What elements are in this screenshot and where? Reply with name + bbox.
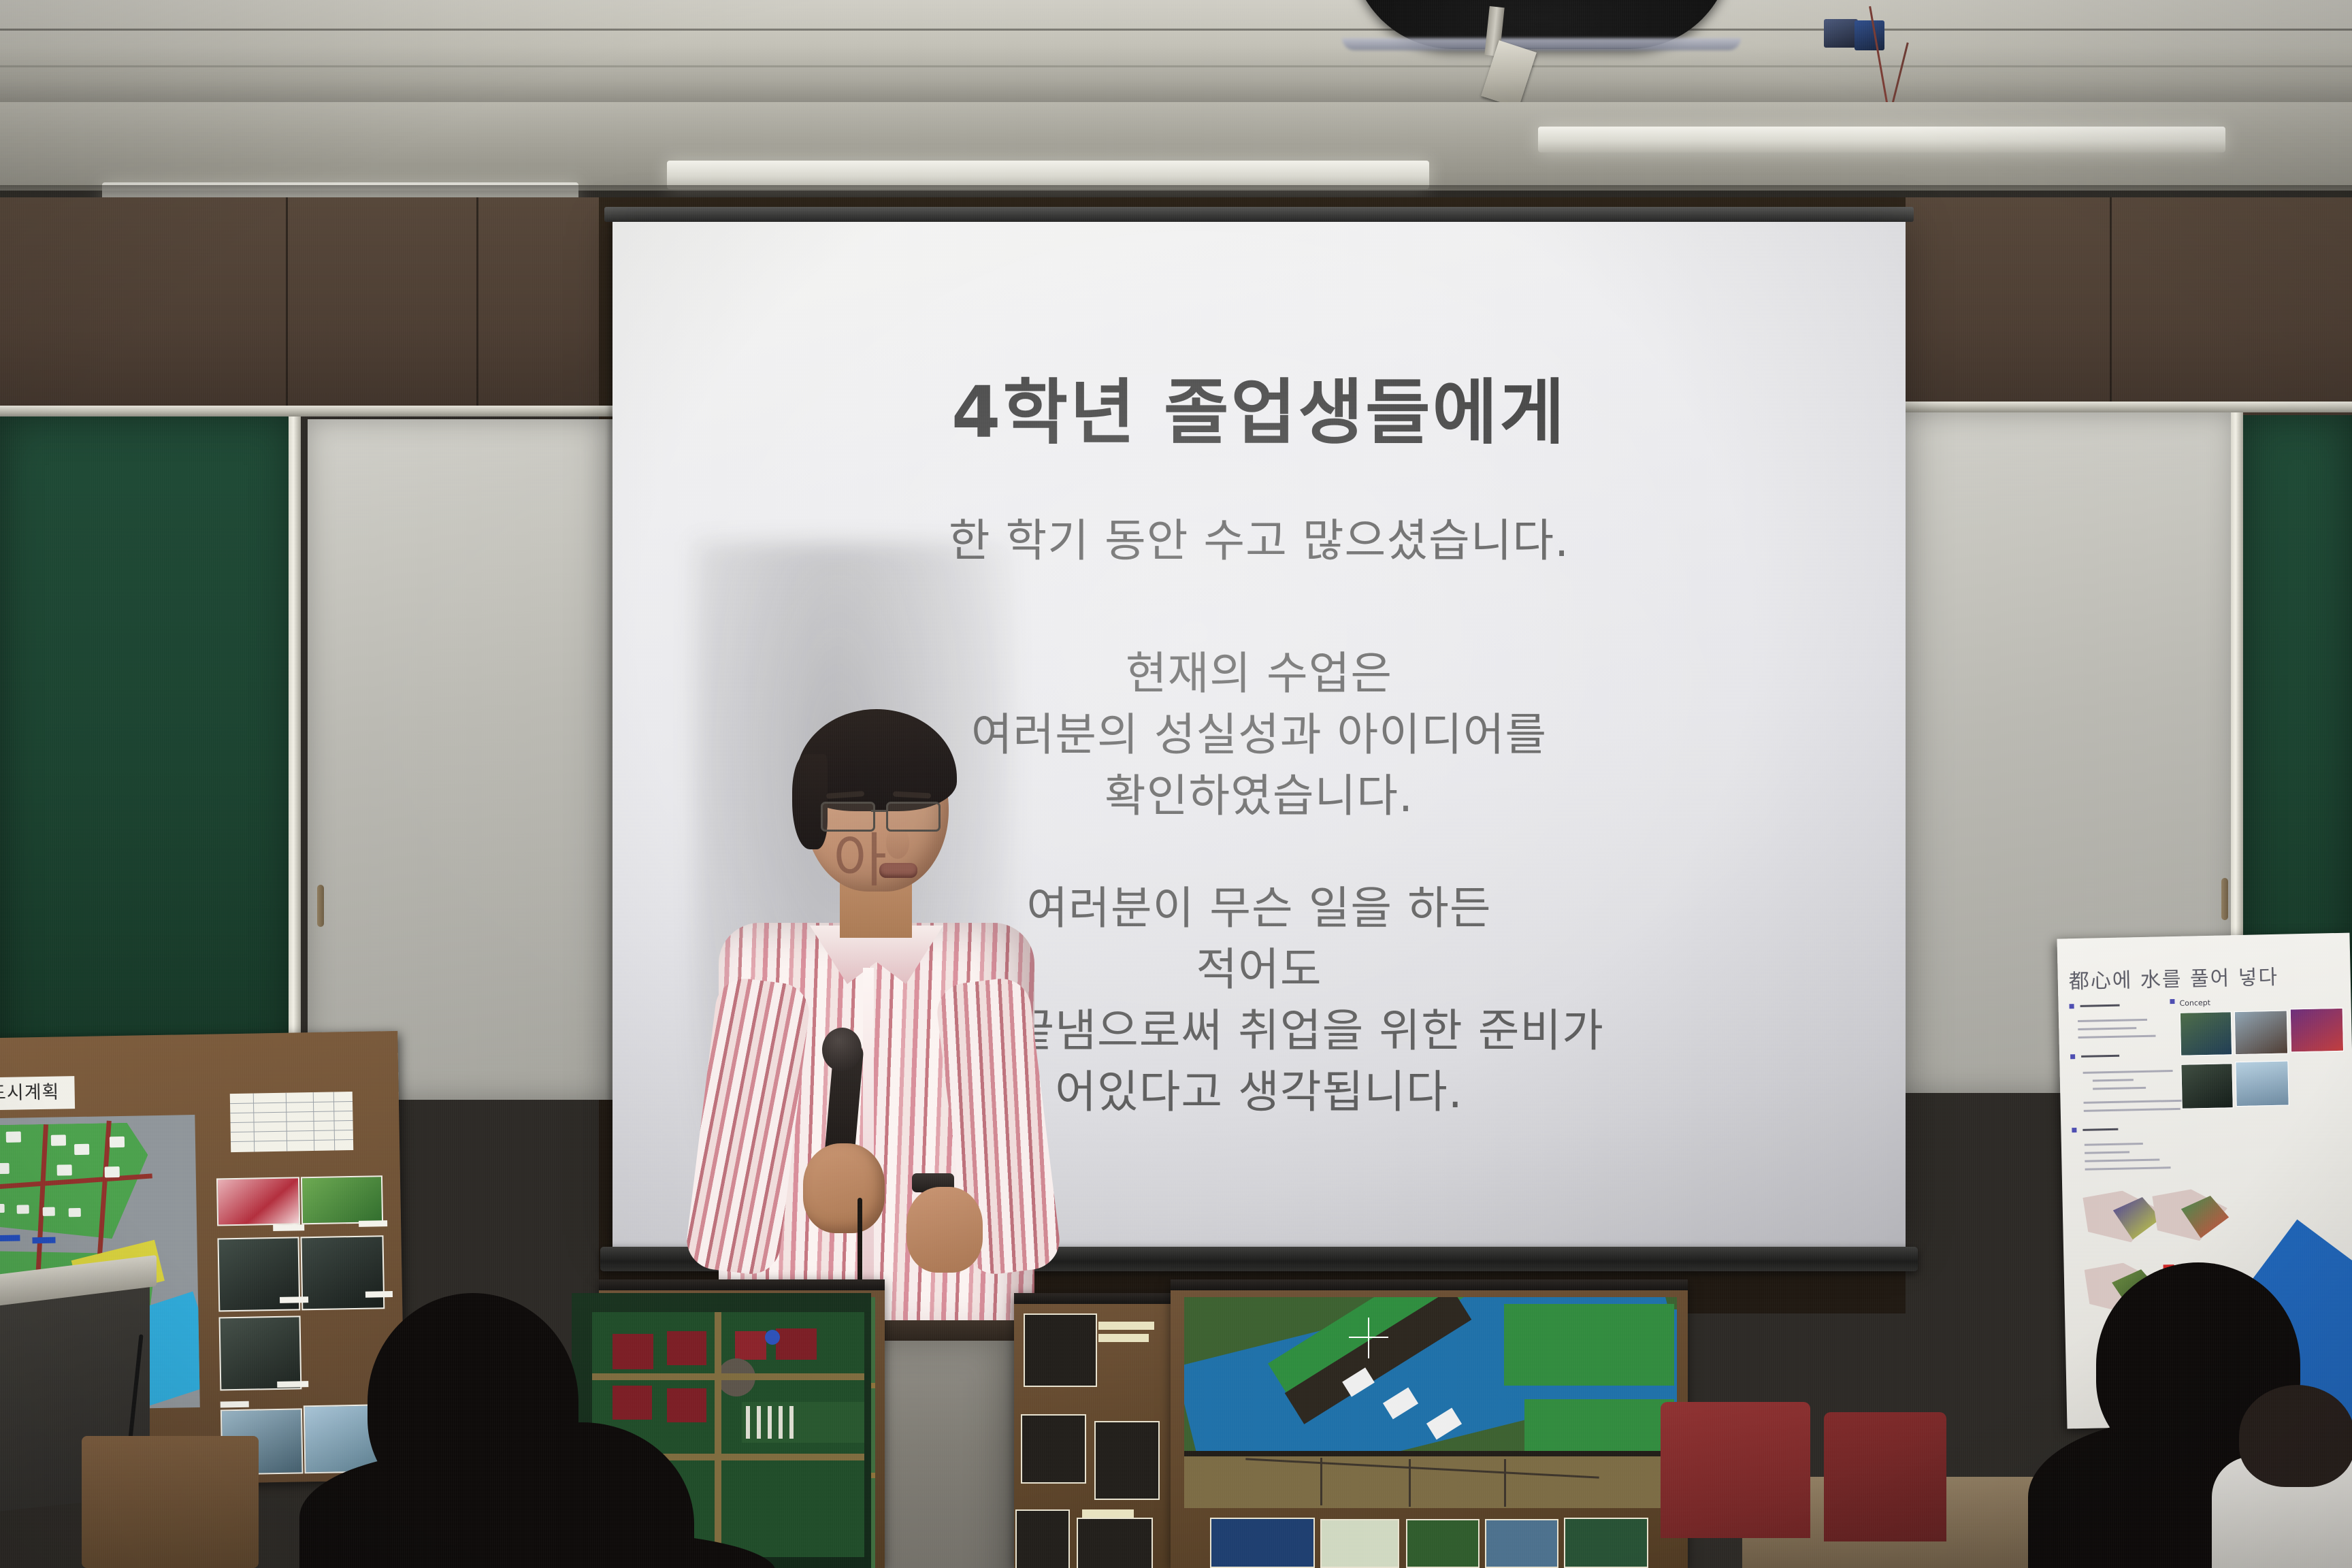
poster-thumbnail (301, 1175, 383, 1224)
presenter-nose (886, 829, 909, 859)
board-mullion (289, 416, 301, 1104)
projected-character-on-face: 아 (833, 832, 887, 890)
poster-right-title: 都心에 水를 풀어 넣다 (2068, 960, 2278, 994)
board-rail (0, 406, 612, 416)
lecture-hall-photo: 4학년 졸업생들에게 한 학기 동안 수고 많으셨습니다. 현재의 수업은 여러… (0, 0, 2352, 1568)
display-board[interactable] (1171, 1279, 1688, 1568)
poster-left-title: 도시계획 (0, 1076, 75, 1111)
chair[interactable] (82, 1436, 259, 1568)
panel-seam (2110, 197, 2112, 415)
screen-casing (604, 207, 1914, 222)
panel-seam (286, 197, 288, 415)
glasses-bridge (871, 810, 886, 812)
poster-thumbnail (300, 1235, 385, 1310)
poster-table (230, 1092, 353, 1152)
ceiling-seam (0, 65, 2352, 67)
glasses-lens (886, 802, 941, 832)
ceiling (0, 0, 2352, 102)
poster-thumbnail (216, 1177, 300, 1226)
ceiling-fixture (1855, 20, 1884, 50)
presenter-hand (803, 1143, 885, 1233)
panel-seam (476, 197, 478, 415)
shirt-placket (863, 968, 874, 1322)
glasses-icon (821, 802, 949, 829)
slide-title: 4학년 졸업생들에게 (612, 355, 1906, 457)
ceiling-seam (0, 29, 2352, 31)
poster-thumbnail (218, 1316, 301, 1390)
presenter-hand (906, 1187, 983, 1273)
chair[interactable] (1661, 1402, 1810, 1538)
board-rail (1892, 402, 2352, 412)
fluorescent-light (1538, 127, 2225, 152)
chalkboard (0, 416, 293, 1104)
poster-section-concept: Concept (2179, 998, 2210, 1008)
display-board[interactable] (1014, 1293, 1177, 1568)
wood-paneling (0, 197, 612, 415)
presenter-mouth (879, 863, 917, 878)
wood-paneling (1892, 197, 2352, 415)
ceiling-fixture (1824, 19, 1858, 48)
audience-head (2239, 1385, 2352, 1487)
projector-rim (1342, 38, 1741, 50)
board-handle[interactable] (317, 885, 324, 927)
whiteboard (308, 419, 612, 1100)
chair[interactable] (1824, 1412, 1946, 1541)
board-handle[interactable] (2221, 878, 2228, 920)
